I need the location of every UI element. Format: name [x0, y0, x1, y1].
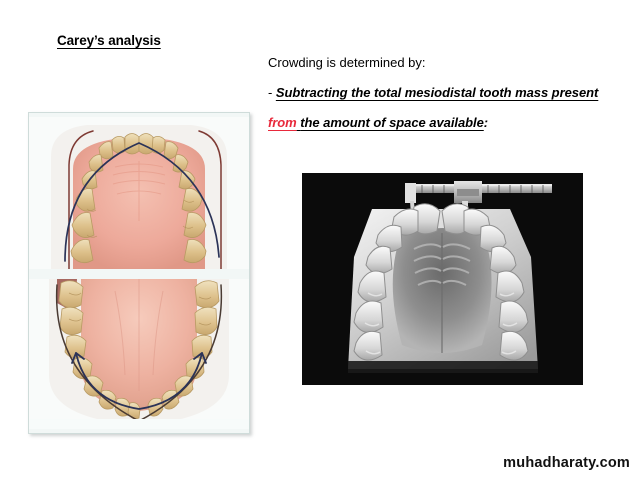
maxillary-stone-cast-photograph — [302, 173, 583, 385]
watermark: muhadharaty.com — [503, 455, 630, 471]
crowding-definition-text: Crowding is determined by: — [268, 55, 426, 70]
mandibular-arch-occlusal-view — [29, 279, 249, 429]
space-available-colon: : — [484, 115, 488, 130]
cast-photo-svg — [302, 173, 583, 385]
maxillary-arch-svg — [29, 117, 249, 269]
subtracting-rule-text: Subtracting the total mesiodistal tooth … — [276, 85, 598, 100]
space-available-line: from the amount of space available: — [268, 108, 630, 138]
maxillary-arch-occlusal-view — [29, 117, 249, 269]
mandibular-arch-svg — [29, 279, 249, 429]
page-title: Carey’s analysis — [57, 33, 161, 48]
from-keyword: from — [268, 115, 297, 130]
subtracting-rule-line: - Subtracting the total mesiodistal toot… — [268, 78, 630, 108]
space-available-text: the amount of space available — [300, 115, 484, 130]
dental-arch-diagram — [28, 112, 250, 434]
explanation-text-block: Crowding is determined by: - Subtracting… — [268, 48, 630, 138]
bullet-dash: - — [268, 85, 276, 100]
crowding-definition-line: Crowding is determined by: — [268, 48, 630, 78]
